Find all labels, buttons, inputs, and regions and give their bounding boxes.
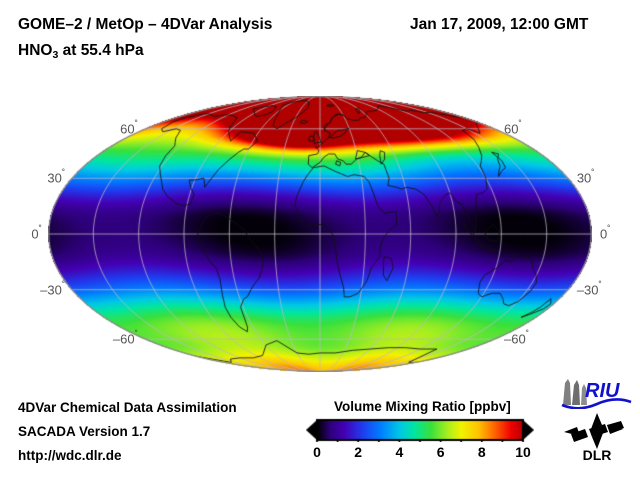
lat-label-right-0: 0˚	[600, 225, 611, 241]
colorbar-gradient	[306, 418, 534, 442]
lat-label-right-30: 30˚	[577, 169, 595, 185]
figure-datetime: Jan 17, 2009, 12:00 GMT	[410, 16, 588, 34]
lat-label-right-60: 60˚	[504, 120, 522, 136]
colorbar-tick-0: 0	[313, 444, 321, 460]
dlr-wordmark: DLR	[583, 447, 612, 462]
species-formula-prefix: HNO	[18, 42, 52, 59]
lat-label-left-0: 0˚	[8, 225, 42, 241]
dlr-logo: DLR	[561, 412, 633, 462]
colorbar-tick-2: 2	[354, 444, 362, 460]
riu-logo: RIU	[559, 375, 633, 409]
footer-line-assimilation: 4DVar Chemical Data Assimilation	[18, 400, 237, 415]
riu-tower-icon	[563, 379, 587, 405]
figure-title-instrument: GOME–2 / MetOp – 4DVar Analysis	[18, 16, 272, 34]
colorbar-tick-4: 4	[395, 444, 403, 460]
species-formula-subscript: 3	[52, 49, 58, 61]
lat-label-right--30: –30˚	[577, 281, 602, 297]
lat-label-left--30: –30˚	[31, 281, 65, 297]
figure-title-species: HNO3 at 55.4 hPa	[18, 42, 144, 60]
lat-label-left-30: 30˚	[31, 169, 65, 185]
colorbar-tick-8: 8	[478, 444, 486, 460]
footer-line-version: SACADA Version 1.7	[18, 424, 150, 439]
lat-label-right--60: –60˚	[504, 330, 529, 346]
colorbar-title: Volume Mixing Ratio [ppbv]	[334, 399, 511, 414]
lat-label-left-60: 60˚	[104, 120, 138, 136]
figure-root: GOME–2 / MetOp – 4DVar Analysis HNO3 at …	[0, 0, 640, 480]
colorbar-tick-6: 6	[437, 444, 445, 460]
species-formula-level: at 55.4 hPa	[58, 42, 143, 59]
lat-label-left--60: –60˚	[104, 330, 138, 346]
colorbar-tick-labels: 0246810	[306, 444, 534, 464]
colorbar-tick-10: 10	[515, 444, 531, 460]
footer-line-url: http://wdc.dlr.de	[18, 448, 122, 463]
dlr-pinwheel-icon	[564, 413, 624, 449]
